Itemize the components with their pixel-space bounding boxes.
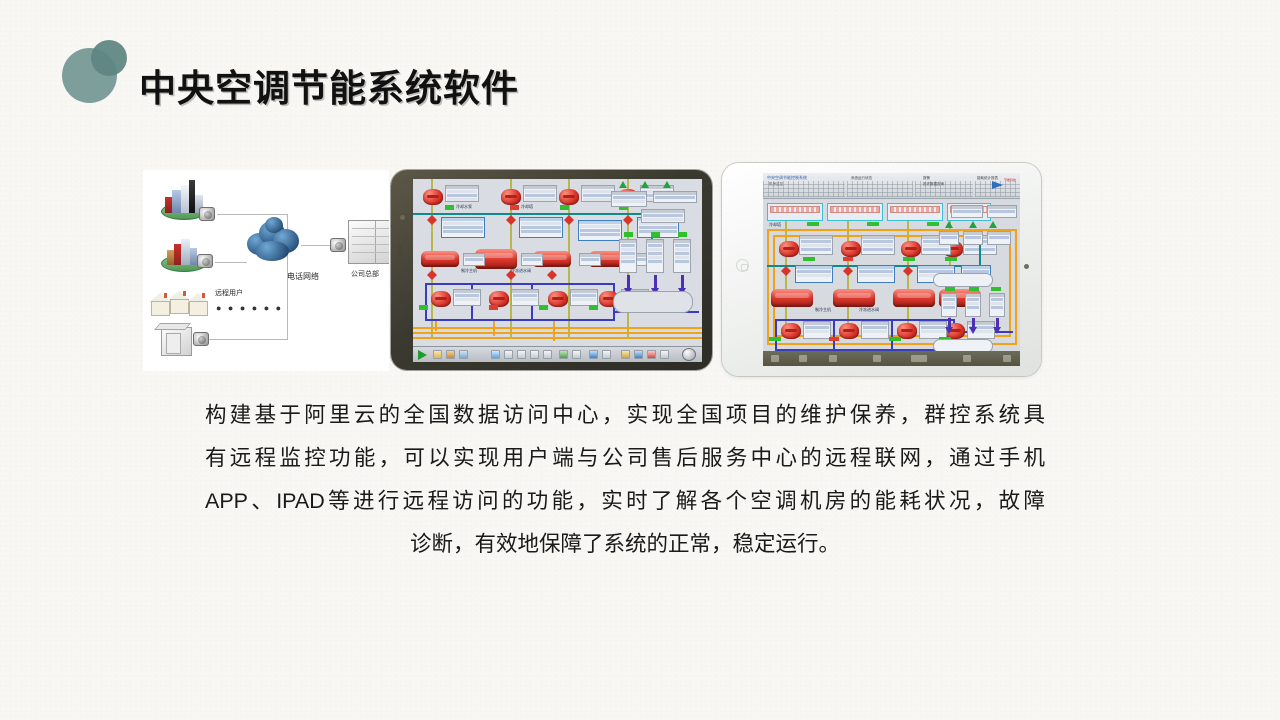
status-ok-5 — [539, 305, 548, 310]
status-ok-r3 — [991, 287, 1001, 291]
diagram-line-1 — [217, 214, 288, 215]
flow-arrow-1 — [627, 275, 630, 289]
server-box — [161, 327, 192, 356]
logo-circle-small — [91, 40, 127, 76]
datapanel-cool-3[interactable] — [581, 185, 615, 202]
status-alarm-p1 — [843, 257, 853, 261]
chiller-3[interactable] — [893, 289, 935, 307]
toolbar-icon-12[interactable] — [602, 350, 611, 359]
status-ok-7 — [624, 232, 633, 237]
paragraph-line-4: 诊断，有效地保障了系统的正常，稳定运行。 — [205, 523, 1045, 566]
cooling-tower-1[interactable] — [767, 203, 823, 221]
toolbar-icon-2[interactable] — [446, 350, 455, 359]
datapanel-chiller-2[interactable] — [521, 253, 543, 266]
chiller-2[interactable] — [833, 289, 875, 307]
pump-chilled-1[interactable] — [431, 291, 451, 307]
datapanel-chilled-3[interactable] — [570, 289, 598, 306]
status-ok-t3 — [927, 222, 939, 226]
network-diagram-image: 公司总部 电话网络 远程用户 ● ● ● ● ● ● — [143, 170, 389, 371]
toolbar-icon-9[interactable] — [559, 350, 568, 359]
status-alarm-c1 — [829, 337, 839, 341]
hmi-header-cell-2: 历史数据查询 — [923, 182, 944, 187]
keyboard-icon[interactable] — [911, 355, 927, 362]
gear-icon[interactable] — [963, 355, 971, 362]
chiller-1[interactable] — [421, 251, 459, 267]
label-headquarters: 公司总部 — [351, 269, 379, 279]
home-button[interactable] — [736, 259, 749, 272]
brand-label: 节能科技 — [1004, 178, 1016, 182]
label-ellipsis: ● ● ● ● ● ● — [216, 303, 283, 313]
datapanel-chilled-1[interactable] — [453, 289, 481, 306]
toolbar-icon-8[interactable] — [543, 350, 552, 359]
status-ok-c1 — [769, 337, 781, 341]
toolbar-icon-11[interactable] — [589, 350, 598, 359]
status-ok-4 — [419, 305, 428, 310]
datapanel-rcol-1[interactable] — [941, 293, 957, 317]
front-camera-icon — [1024, 264, 1029, 269]
globe-icon[interactable] — [682, 348, 696, 361]
pump-cooling-2[interactable] — [501, 189, 521, 205]
toolbar-icon-4[interactable] — [491, 350, 500, 359]
status-ok-r2 — [969, 287, 979, 291]
grid-icon[interactable] — [799, 355, 807, 362]
status-ok-6 — [589, 305, 598, 310]
label-chiller: 制冷主机 — [461, 268, 477, 274]
flow-arrow-3 — [996, 318, 999, 328]
datapanel-mid-2[interactable] — [519, 217, 563, 238]
cooling-tower-2[interactable] — [827, 203, 883, 221]
water-tank[interactable] — [613, 291, 693, 313]
status-ok-t1 — [807, 222, 819, 226]
datapanel-right-top[interactable] — [611, 191, 647, 207]
headquarters-rack — [348, 220, 389, 264]
datapanel-rcol-2[interactable] — [965, 293, 981, 317]
datapanel-ctrl-1[interactable] — [939, 231, 959, 245]
label-cooling-tower: 冷却塔 — [521, 204, 533, 210]
datapanel-col-3[interactable] — [673, 239, 691, 273]
pump-cooling-3[interactable] — [559, 189, 579, 205]
datapanel-cool-1[interactable] — [445, 185, 479, 202]
status-ok-2 — [560, 205, 569, 210]
wrench-icon[interactable] — [873, 355, 881, 362]
connector-icon-1 — [199, 207, 215, 221]
toolbar-icon-5[interactable] — [504, 350, 513, 359]
hmi-header-bar: 中央空调节能控制系统 机房监控 系统运行状态 报警 历史数据查询 能耗统计报表 … — [763, 173, 1020, 199]
flow-arrow-2 — [654, 275, 657, 289]
cooling-tower-3[interactable] — [887, 203, 943, 221]
label-chiller: 制冷主机 — [815, 307, 831, 313]
toolbar-icon-13[interactable] — [621, 350, 630, 359]
device-phone-dark[interactable]: 冷却水泵 冷却塔 制冷主机 — [391, 170, 712, 370]
scada-screen-dark[interactable]: 冷却水泵 冷却塔 制冷主机 — [413, 179, 702, 362]
datapanel-cw-2[interactable] — [861, 235, 895, 255]
toolbar-icon-3[interactable] — [459, 350, 468, 359]
paragraph-line-2: 有远程监控功能，可以实现用户端与公司售后服务中心的远程联网，通过手机 — [205, 437, 1045, 480]
slide-logo — [62, 40, 128, 106]
status-ok-8 — [651, 232, 660, 237]
datapanel-chilled-2[interactable] — [511, 289, 539, 306]
pump-chilled-1[interactable] — [781, 323, 801, 339]
status-alarm-1 — [510, 205, 519, 210]
datapanel-chiller-1[interactable] — [463, 253, 485, 266]
datapanel-ctrl-3[interactable] — [987, 231, 1011, 245]
status-ok-p1 — [803, 257, 815, 261]
diagram-line-5 — [209, 339, 288, 340]
water-tank-top[interactable] — [933, 273, 993, 287]
pump-cooling-3[interactable] — [901, 241, 921, 257]
datapanel-right-tank[interactable] — [641, 209, 685, 223]
datapanel-col-1[interactable] — [619, 239, 637, 273]
speaker-grill — [398, 245, 402, 273]
pump-chilled-3[interactable] — [548, 291, 568, 307]
page-title: 中央空调节能系统软件 — [139, 58, 519, 112]
datapanel-mid-1[interactable] — [795, 265, 833, 283]
hmi-toolbar-dark[interactable] — [413, 346, 702, 362]
connector-icon-3 — [193, 332, 209, 346]
connector-icon-2 — [197, 254, 213, 268]
diagram-line-3 — [215, 262, 247, 263]
flow-arrow-1 — [948, 318, 951, 328]
body-paragraph: 构建基于阿里云的全国数据访问中心，实现全国项目的维护保养，群控系统具 有远程监控… — [205, 394, 1045, 566]
toolbar-icon-6[interactable] — [517, 350, 526, 359]
close-icon[interactable] — [771, 355, 779, 362]
datapanel-mid-1[interactable] — [441, 217, 485, 238]
datapanel-cw-1[interactable] — [799, 235, 833, 255]
datapanel-tower-right2[interactable] — [987, 205, 1017, 218]
pump-chilled-2[interactable] — [839, 323, 859, 339]
flow-arrow-2 — [972, 318, 975, 328]
datapanel-right-top2[interactable] — [653, 191, 697, 203]
diagram-line-6 — [301, 245, 331, 246]
status-ok-c2 — [889, 337, 901, 341]
toolbar-icon-14[interactable] — [634, 350, 643, 359]
connector-icon-4 — [330, 238, 346, 252]
pump-cooling-1[interactable] — [423, 189, 443, 205]
hmi-header-cell-0: 系统运行状态 — [851, 176, 872, 181]
status-ok-p2 — [903, 257, 915, 261]
paragraph-line-1: 构建基于阿里云的全国数据访问中心，实现全国项目的维护保养，群控系统具 — [205, 394, 1045, 437]
datapanel-mid-2[interactable] — [857, 265, 895, 283]
datapanel-chw-2[interactable] — [861, 321, 889, 339]
chiller-1[interactable] — [771, 289, 813, 307]
hmi-header-cell-1: 报警 — [923, 176, 930, 181]
datapanel-chw-1[interactable] — [803, 321, 831, 339]
pump-cooling-1[interactable] — [779, 241, 799, 257]
toolbar-icon-15[interactable] — [647, 350, 656, 359]
status-ok-r1 — [945, 287, 955, 291]
hmi-toolbar-white[interactable] — [763, 351, 1020, 366]
toolbar-icon-16[interactable] — [660, 350, 669, 359]
scada-screen-white[interactable]: 中央空调节能控制系统 机房监控 系统运行状态 报警 历史数据查询 能耗统计报表 … — [763, 173, 1020, 366]
status-ok-p3 — [945, 257, 957, 261]
toolbar-icon-7[interactable] — [530, 350, 539, 359]
label-cooling-tower: 冷却塔 — [769, 222, 781, 228]
datapanel-mid-3[interactable] — [578, 220, 622, 241]
status-alarm-2 — [489, 305, 498, 310]
brand-logo: 节能科技 — [992, 178, 1016, 193]
status-ok-9 — [678, 232, 687, 237]
toolbar-icon-1[interactable] — [433, 350, 442, 359]
datapanel-tower-right[interactable] — [951, 205, 983, 218]
device-tablet-white[interactable]: 中央空调节能控制系统 机房监控 系统运行状态 报警 历史数据查询 能耗统计报表 … — [722, 163, 1041, 376]
cloud-icon — [245, 217, 301, 263]
link-icon[interactable] — [829, 355, 837, 362]
toolbar-icon-10[interactable] — [572, 350, 581, 359]
label-telephone-network: 电话网络 — [287, 271, 319, 282]
label-cooling-pump: 冷却水泵 — [456, 204, 472, 210]
datapanel-chiller-3[interactable] — [579, 253, 601, 266]
status-ok-t2 — [867, 222, 879, 226]
datapanel-col-2[interactable] — [646, 239, 664, 273]
datapanel-rcol-3[interactable] — [989, 293, 1005, 317]
datapanel-ctrl-2[interactable] — [963, 231, 983, 245]
pump-cooling-2[interactable] — [841, 241, 861, 257]
flow-arrow-3 — [681, 275, 684, 289]
datapanel-cool-2[interactable] — [523, 185, 557, 202]
front-camera-icon — [400, 215, 405, 220]
label-remote-users: 远程用户 — [215, 288, 243, 298]
label-chilled-pump: 冷冻进水阀 — [859, 307, 879, 313]
back-icon[interactable] — [1003, 355, 1011, 362]
paragraph-line-3: APP、IPAD等进行远程访问的功能，实时了解各个空调机房的能耗状况，故障 — [205, 480, 1045, 523]
status-ok-1 — [445, 205, 454, 210]
run-button[interactable] — [418, 350, 427, 360]
